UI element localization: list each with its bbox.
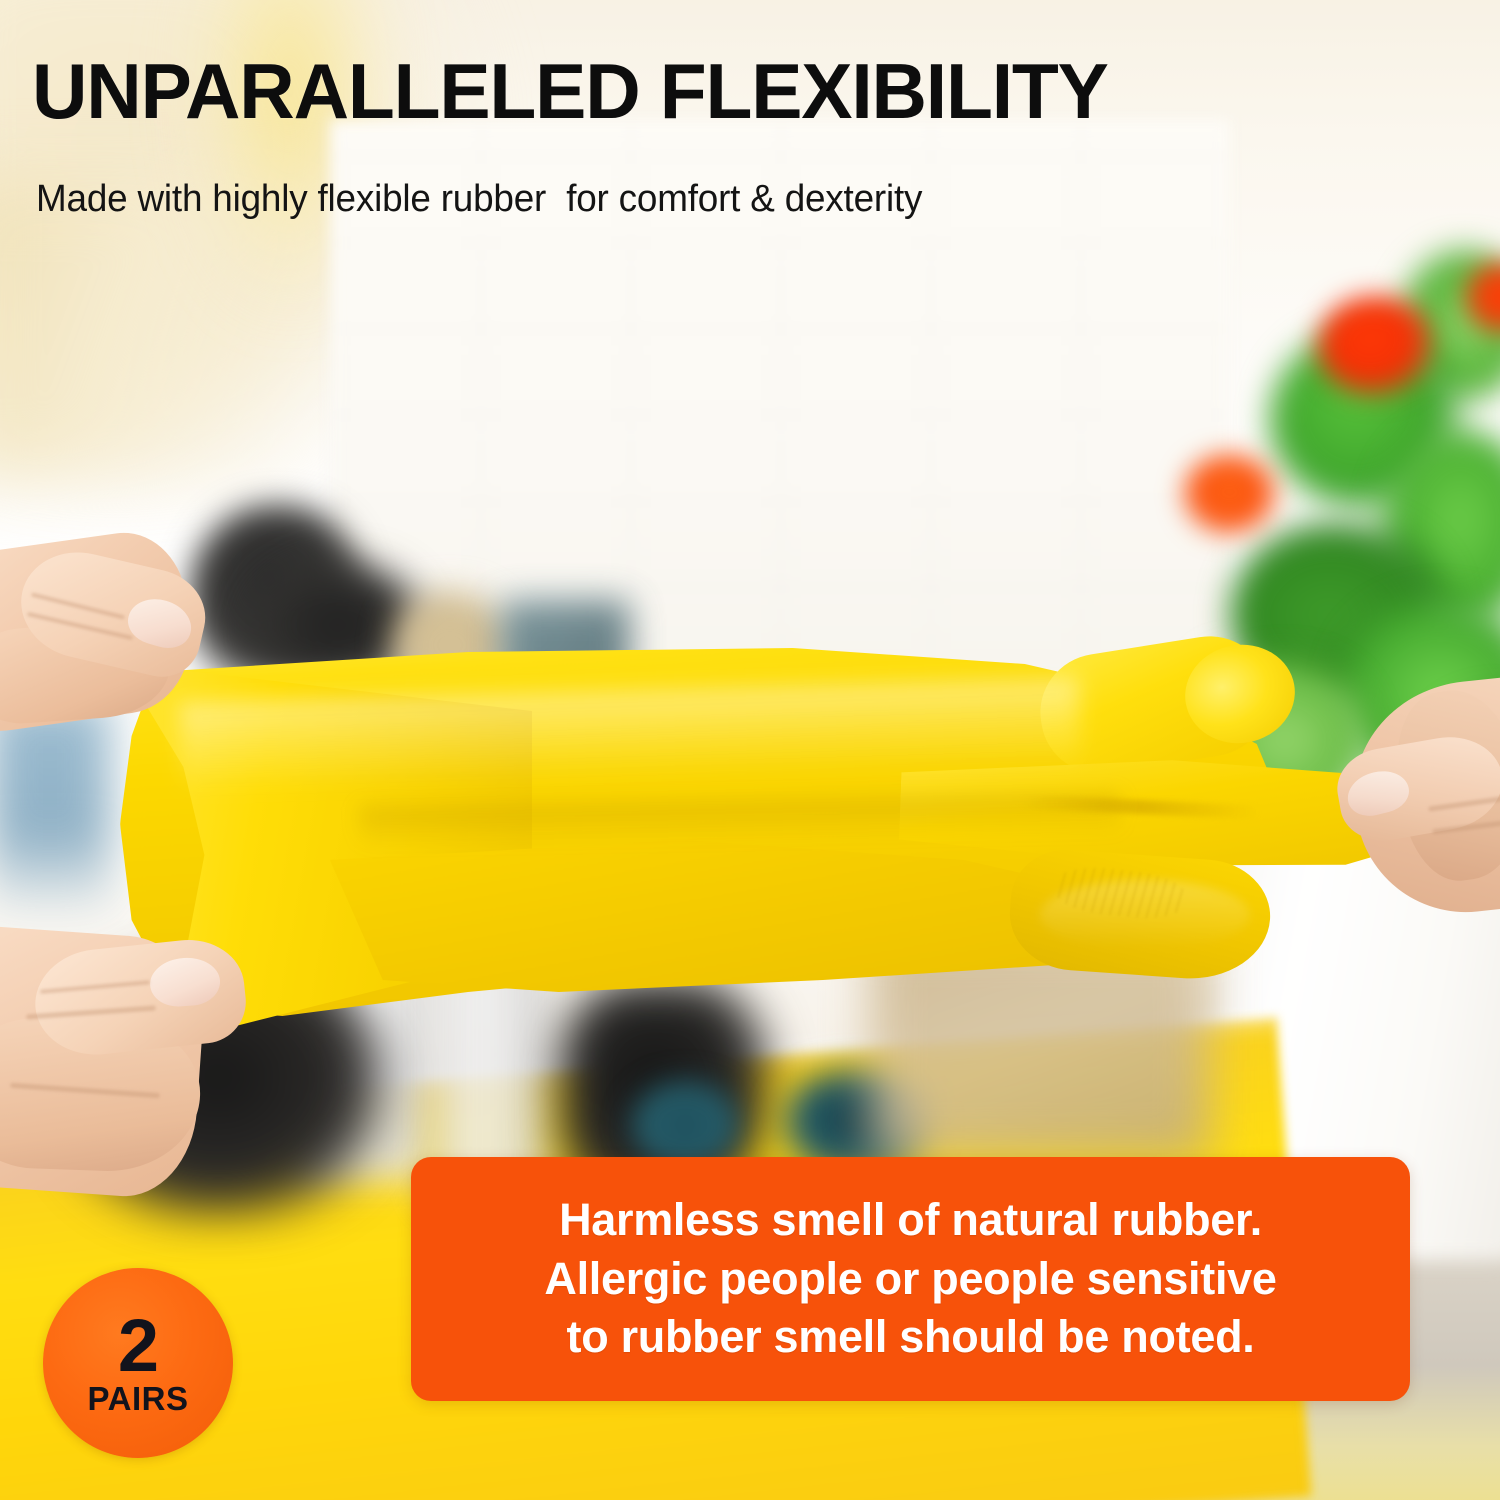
product-feature-image: UNPARALLELED FLEXIBILITY Made with highl…	[0, 0, 1500, 1500]
callout-text: Harmless smell of natural rubber. Allerg…	[518, 1191, 1302, 1367]
quantity-badge: 2 PAIRS	[43, 1268, 233, 1458]
callout-box: Harmless smell of natural rubber. Allerg…	[411, 1157, 1410, 1401]
page-subtitle: Made with highly flexible rubber for com…	[36, 178, 922, 221]
page-title: UNPARALLELED FLEXIBILITY	[32, 52, 1108, 130]
badge-label: PAIRS	[88, 1382, 189, 1415]
badge-number: 2	[118, 1311, 158, 1381]
